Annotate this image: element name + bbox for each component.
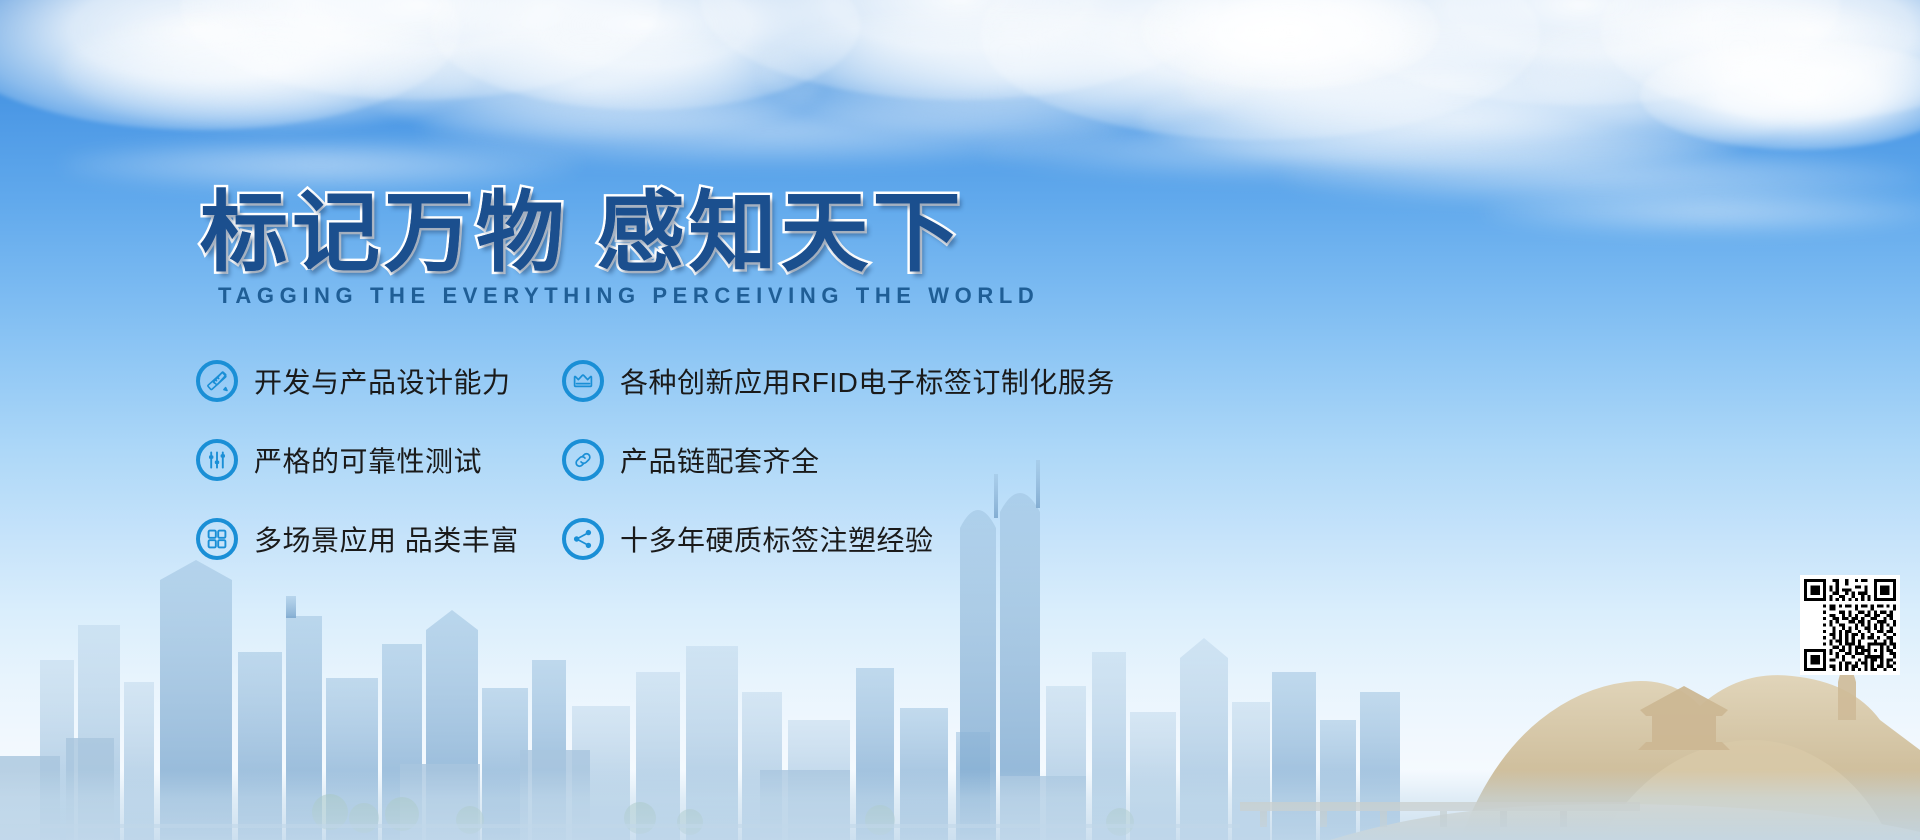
feature-row: 严格的可靠性测试 产品链配套齐全 [196,439,1316,481]
share-network-icon [562,518,604,560]
feature-label: 产品链配套齐全 [620,440,820,480]
link-chain-icon [562,439,604,481]
feature-column-left: 多场景应用 品类丰富 [196,518,562,560]
qr-code[interactable] [1800,575,1900,675]
feature-row: 开发与产品设计能力 各种创新应用RFID电子标签订制化服务 [196,360,1316,402]
feature-item-multi-scene[interactable]: 多场景应用 品类丰富 [196,518,562,560]
feature-column-left: 开发与产品设计能力 [196,360,562,402]
crown-icon [562,360,604,402]
grid-squares-icon [196,518,238,560]
banner-content: 标记万物 感知天下 标记万物 感知天下 TAGGING THE EVERYTHI… [0,0,1920,840]
feature-row: 多场景应用 品类丰富 [196,518,1316,560]
feature-label: 开发与产品设计能力 [254,361,511,401]
feature-item-rfid-custom[interactable]: 各种创新应用RFID电子标签订制化服务 [562,360,1316,402]
feature-label: 多场景应用 品类丰富 [254,519,519,559]
feature-item-injection-experience[interactable]: 十多年硬质标签注塑经验 [562,518,1316,560]
feature-column-right: 产品链配套齐全 [562,439,1316,481]
page-title-fill: 标记万物 感知天下 [200,162,964,289]
feature-item-reliability-test[interactable]: 严格的可靠性测试 [196,439,562,481]
hero-banner: 标记万物 感知天下 标记万物 感知天下 TAGGING THE EVERYTHI… [0,0,1920,840]
feature-column-right: 十多年硬质标签注塑经验 [562,518,1316,560]
ruler-pencil-icon [196,360,238,402]
feature-column-left: 严格的可靠性测试 [196,439,562,481]
feature-list: 开发与产品设计能力 各种创新应用RFID电子标签订制化服务 [196,360,1316,597]
feature-label: 十多年硬质标签注塑经验 [620,519,934,559]
feature-item-design[interactable]: 开发与产品设计能力 [196,360,562,402]
feature-item-product-chain[interactable]: 产品链配套齐全 [562,439,1316,481]
feature-column-right: 各种创新应用RFID电子标签订制化服务 [562,360,1316,402]
feature-label: 严格的可靠性测试 [254,440,482,480]
sliders-icon [196,439,238,481]
feature-label: 各种创新应用RFID电子标签订制化服务 [620,361,1115,401]
